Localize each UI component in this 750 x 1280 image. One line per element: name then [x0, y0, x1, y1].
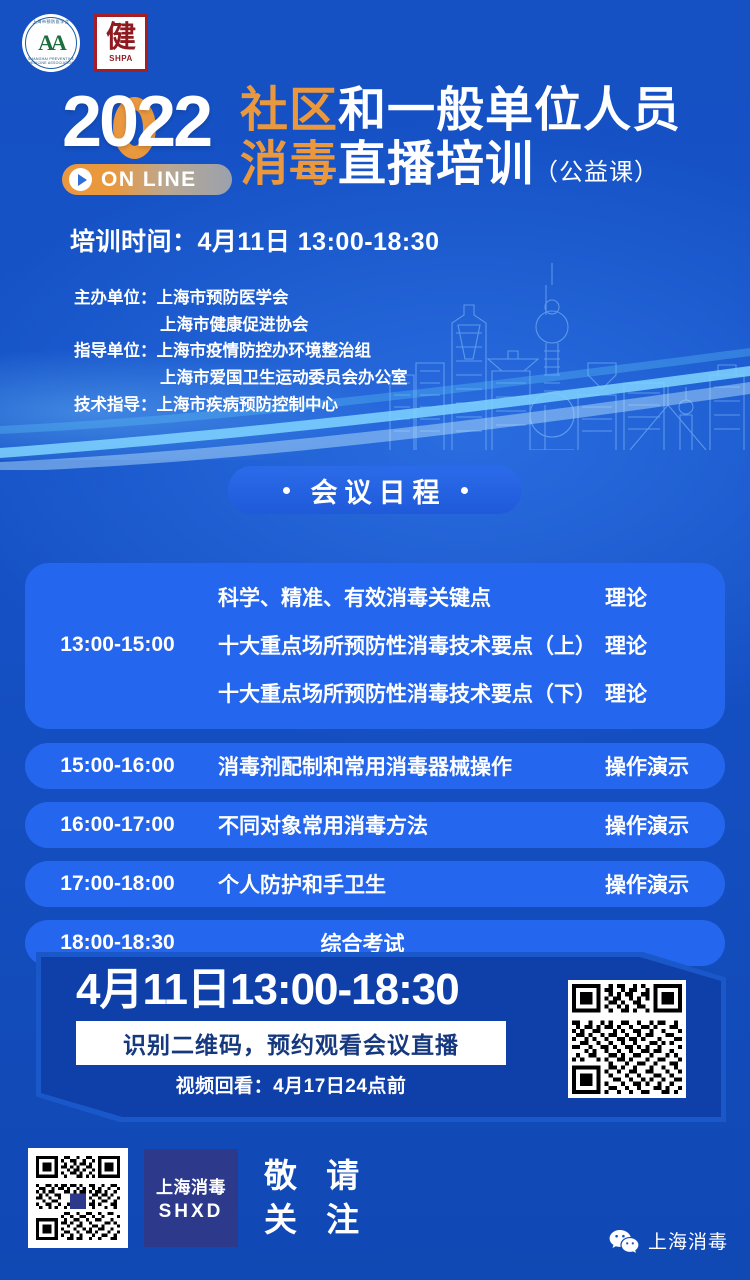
follow-call-to-action: 敬 请 关 注: [264, 1154, 369, 1241]
banner-text-block: 4月11日13:00-18:30 识别二维码，预约观看会议直播 视频回看：4月1…: [76, 966, 506, 1098]
footer-follow-block: 上海消毒 SHXD 敬 请 关 注: [28, 1148, 369, 1248]
schedule-kind: 理论: [605, 678, 725, 708]
schedule-row[interactable]: 15:00-16:00 消毒剂配制和常用消毒器械操作 操作演示: [25, 743, 725, 789]
title-line-2: 消毒直播培训（公益课）: [240, 138, 681, 192]
org-line: 主办单位：上海市预防医学会: [74, 285, 408, 312]
org-line: 指导单位：上海市疫情防控办环境整治组: [74, 338, 408, 365]
section-title-text: 会议日程: [304, 471, 447, 510]
org-value: 上海市健康促进协会: [160, 316, 309, 334]
org-value: 上海市疫情防控办环境整治组: [157, 342, 372, 360]
shxd-logo-cn: 上海消毒: [156, 1173, 226, 1198]
org-label: 指导单位：: [74, 342, 157, 360]
org-logos: 上海市预防医学会 AA SHANGHAI PREVENTIVE MEDICINE…: [22, 14, 148, 72]
schedule-kind: 操作演示: [605, 810, 725, 840]
schedule-time: 16:00-17:00: [25, 813, 210, 837]
title-line2-suffix: （公益课）: [534, 159, 659, 186]
seal-top-text: 上海市预防医学会: [22, 19, 80, 25]
org-value: 上海市爱国卫生运动委员会办公室: [160, 369, 408, 387]
online-badge: ON LINE: [62, 164, 232, 195]
spma-seal-logo: 上海市预防医学会 AA SHANGHAI PREVENTIVE MEDICINE…: [22, 14, 80, 72]
schedule-time: 17:00-18:00: [25, 872, 210, 896]
schedule-item[interactable]: 科学、精准、有效消毒关键点 理论: [210, 573, 725, 621]
schedule-group-items: 科学、精准、有效消毒关键点 理论 十大重点场所预防性消毒技术要点（上） 理论 十…: [210, 573, 725, 717]
follow-line-1: 敬 请: [264, 1154, 369, 1198]
schedule-time: 13:00-15:00: [25, 633, 210, 657]
seal-square-abbr: SHPA: [109, 54, 133, 63]
schedule-topic: 十大重点场所预防性消毒技术要点（上）: [210, 630, 605, 660]
year-logo: 2022 ON LINE: [62, 88, 252, 195]
seal-square-char: 健: [106, 23, 136, 53]
seal-bottom-text: SHANGHAI PREVENTIVE MEDICINE ASSOCIATION: [22, 57, 80, 65]
org-line: 上海市健康促进协会: [74, 312, 408, 339]
schedule-kind: 理论: [605, 630, 725, 660]
schedule-kind: 操作演示: [605, 869, 725, 899]
wechat-account-attribution: 上海消毒: [609, 1227, 728, 1254]
hero-banner: 2022 ON LINE 社区和一般单位人员 消毒直播培训（公益课）: [0, 88, 750, 208]
schedule-group-row[interactable]: 13:00-15:00 科学、精准、有效消毒关键点 理论 十大重点场所预防性消毒…: [25, 563, 725, 729]
schedule-topic: 十大重点场所预防性消毒技术要点（下）: [210, 678, 605, 708]
org-value: 上海市疾病预防控制中心: [157, 396, 339, 414]
schedule-row[interactable]: 16:00-17:00 不同对象常用消毒方法 操作演示: [25, 802, 725, 848]
schedule-topic: 科学、精准、有效消毒关键点: [210, 582, 605, 612]
banner-replay-note: 视频回看：4月17日24点前: [76, 1071, 506, 1098]
wechat-icon: [609, 1229, 639, 1253]
org-label: 技术指导：: [74, 396, 157, 414]
schedule-item[interactable]: 十大重点场所预防性消毒技术要点（上） 理论: [210, 621, 725, 669]
schedule-time: 15:00-16:00: [25, 754, 210, 778]
schedule-topic: 个人防护和手卫生: [210, 869, 605, 899]
wechat-account-qr-code[interactable]: [28, 1148, 128, 1248]
title-line1-highlight: 社区: [240, 84, 338, 137]
shanghai-skyline-graphic: [380, 255, 750, 450]
title-line2-highlight: 消毒: [240, 138, 338, 191]
schedule-kind: 理论: [605, 582, 725, 612]
shpa-seal-logo: 健 SHPA: [94, 14, 148, 72]
org-value: 上海市预防医学会: [157, 289, 289, 307]
title-line2-rest: 直播培训: [338, 138, 534, 191]
org-line: 上海市爱国卫生运动委员会办公室: [74, 365, 408, 392]
schedule-topic: 消毒剂配制和常用消毒器械操作: [210, 751, 605, 781]
schedule-item[interactable]: 十大重点场所预防性消毒技术要点（下） 理论: [210, 669, 725, 717]
schedule-topic: 不同对象常用消毒方法: [210, 810, 605, 840]
schedule-row[interactable]: 17:00-18:00 个人防护和手卫生 操作演示: [25, 861, 725, 907]
title-line1-rest: 和一般单位人员: [338, 84, 681, 137]
hero-title: 社区和一般单位人员 消毒直播培训（公益课）: [240, 84, 681, 192]
bullet-dot-icon: [461, 487, 468, 494]
shxd-brand-logo: 上海消毒 SHXD: [144, 1149, 238, 1247]
organizer-list: 主办单位：上海市预防医学会 上海市健康促进协会 指导单位：上海市疫情防控办环境整…: [74, 285, 408, 419]
follow-line-2: 关 注: [264, 1198, 369, 1242]
schedule-kind: 操作演示: [605, 751, 725, 781]
year-text: 2022: [62, 88, 252, 156]
registration-banner: 4月11日13:00-18:30 识别二维码，预约观看会议直播 视频回看：4月1…: [36, 952, 726, 1122]
livestream-qr-code[interactable]: [568, 980, 686, 1098]
schedule-section-title: 会议日程: [228, 466, 522, 514]
play-icon: [69, 168, 92, 191]
org-label: 主办单位：: [74, 289, 157, 307]
online-label: ON LINE: [101, 168, 197, 192]
bullet-dot-icon: [283, 487, 290, 494]
wechat-account-name: 上海消毒: [648, 1227, 728, 1254]
title-line-1: 社区和一般单位人员: [240, 84, 681, 138]
banner-cta: 识别二维码，预约观看会议直播: [76, 1021, 506, 1065]
banner-date: 4月11日13:00-18:30: [76, 966, 506, 1014]
shxd-logo-en: SHXD: [159, 1201, 224, 1223]
org-line: 技术指导：上海市疾病预防控制中心: [74, 392, 408, 419]
schedule-table: 13:00-15:00 科学、精准、有效消毒关键点 理论 十大重点场所预防性消毒…: [25, 563, 725, 979]
training-time: 培训时间：4月11日 13:00-18:30: [70, 222, 440, 258]
